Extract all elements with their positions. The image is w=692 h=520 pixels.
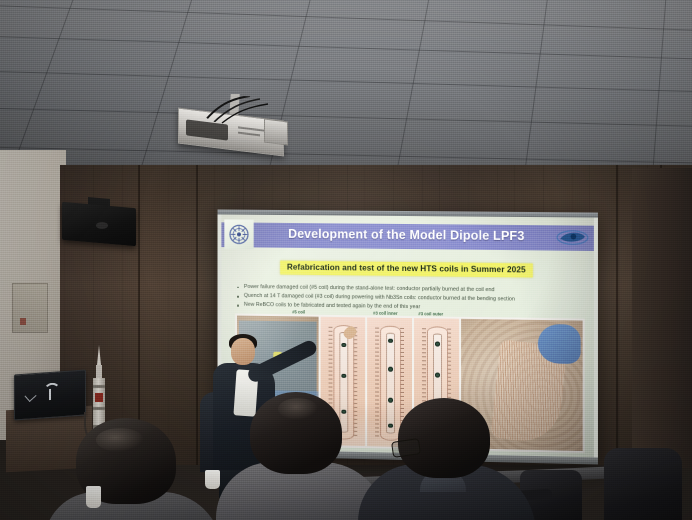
office-chair-back (604, 448, 682, 520)
audience-member-centre (238, 392, 358, 520)
rocket-flag-marking (95, 393, 103, 402)
wood-grain-line (618, 165, 619, 465)
paper-cup (86, 486, 101, 508)
paper-cup (205, 470, 220, 489)
right-wall-dark-panel (632, 168, 692, 468)
audience-member-left (62, 418, 194, 520)
laptop-logo-icon (42, 381, 58, 400)
wall-panel-marking (20, 318, 26, 325)
presenter-head (231, 338, 255, 365)
slide-subtitle-highlighted: Refabrication and test of the new HTS co… (280, 261, 533, 277)
projector-lens (264, 119, 288, 146)
blue-glove (538, 324, 581, 364)
wall-panel-seam (616, 165, 618, 465)
slide-subtitle-row: Refabrication and test of the new HTS co… (221, 256, 593, 278)
audience-hair-highlight (278, 398, 318, 420)
speaker-cone-icon (96, 222, 108, 229)
projector-cables (202, 96, 282, 126)
ceiling-projector (172, 100, 292, 160)
conference-room-photo: Development of the Model Dipole LPF3 Ref… (0, 0, 692, 520)
wall-panel-seam (196, 165, 198, 465)
rocket-nose-cone (97, 345, 101, 365)
audience-member-right (384, 398, 510, 520)
audience-hair-highlight (96, 428, 144, 452)
wall-access-panel (12, 283, 48, 333)
rocket-neck (96, 365, 102, 378)
